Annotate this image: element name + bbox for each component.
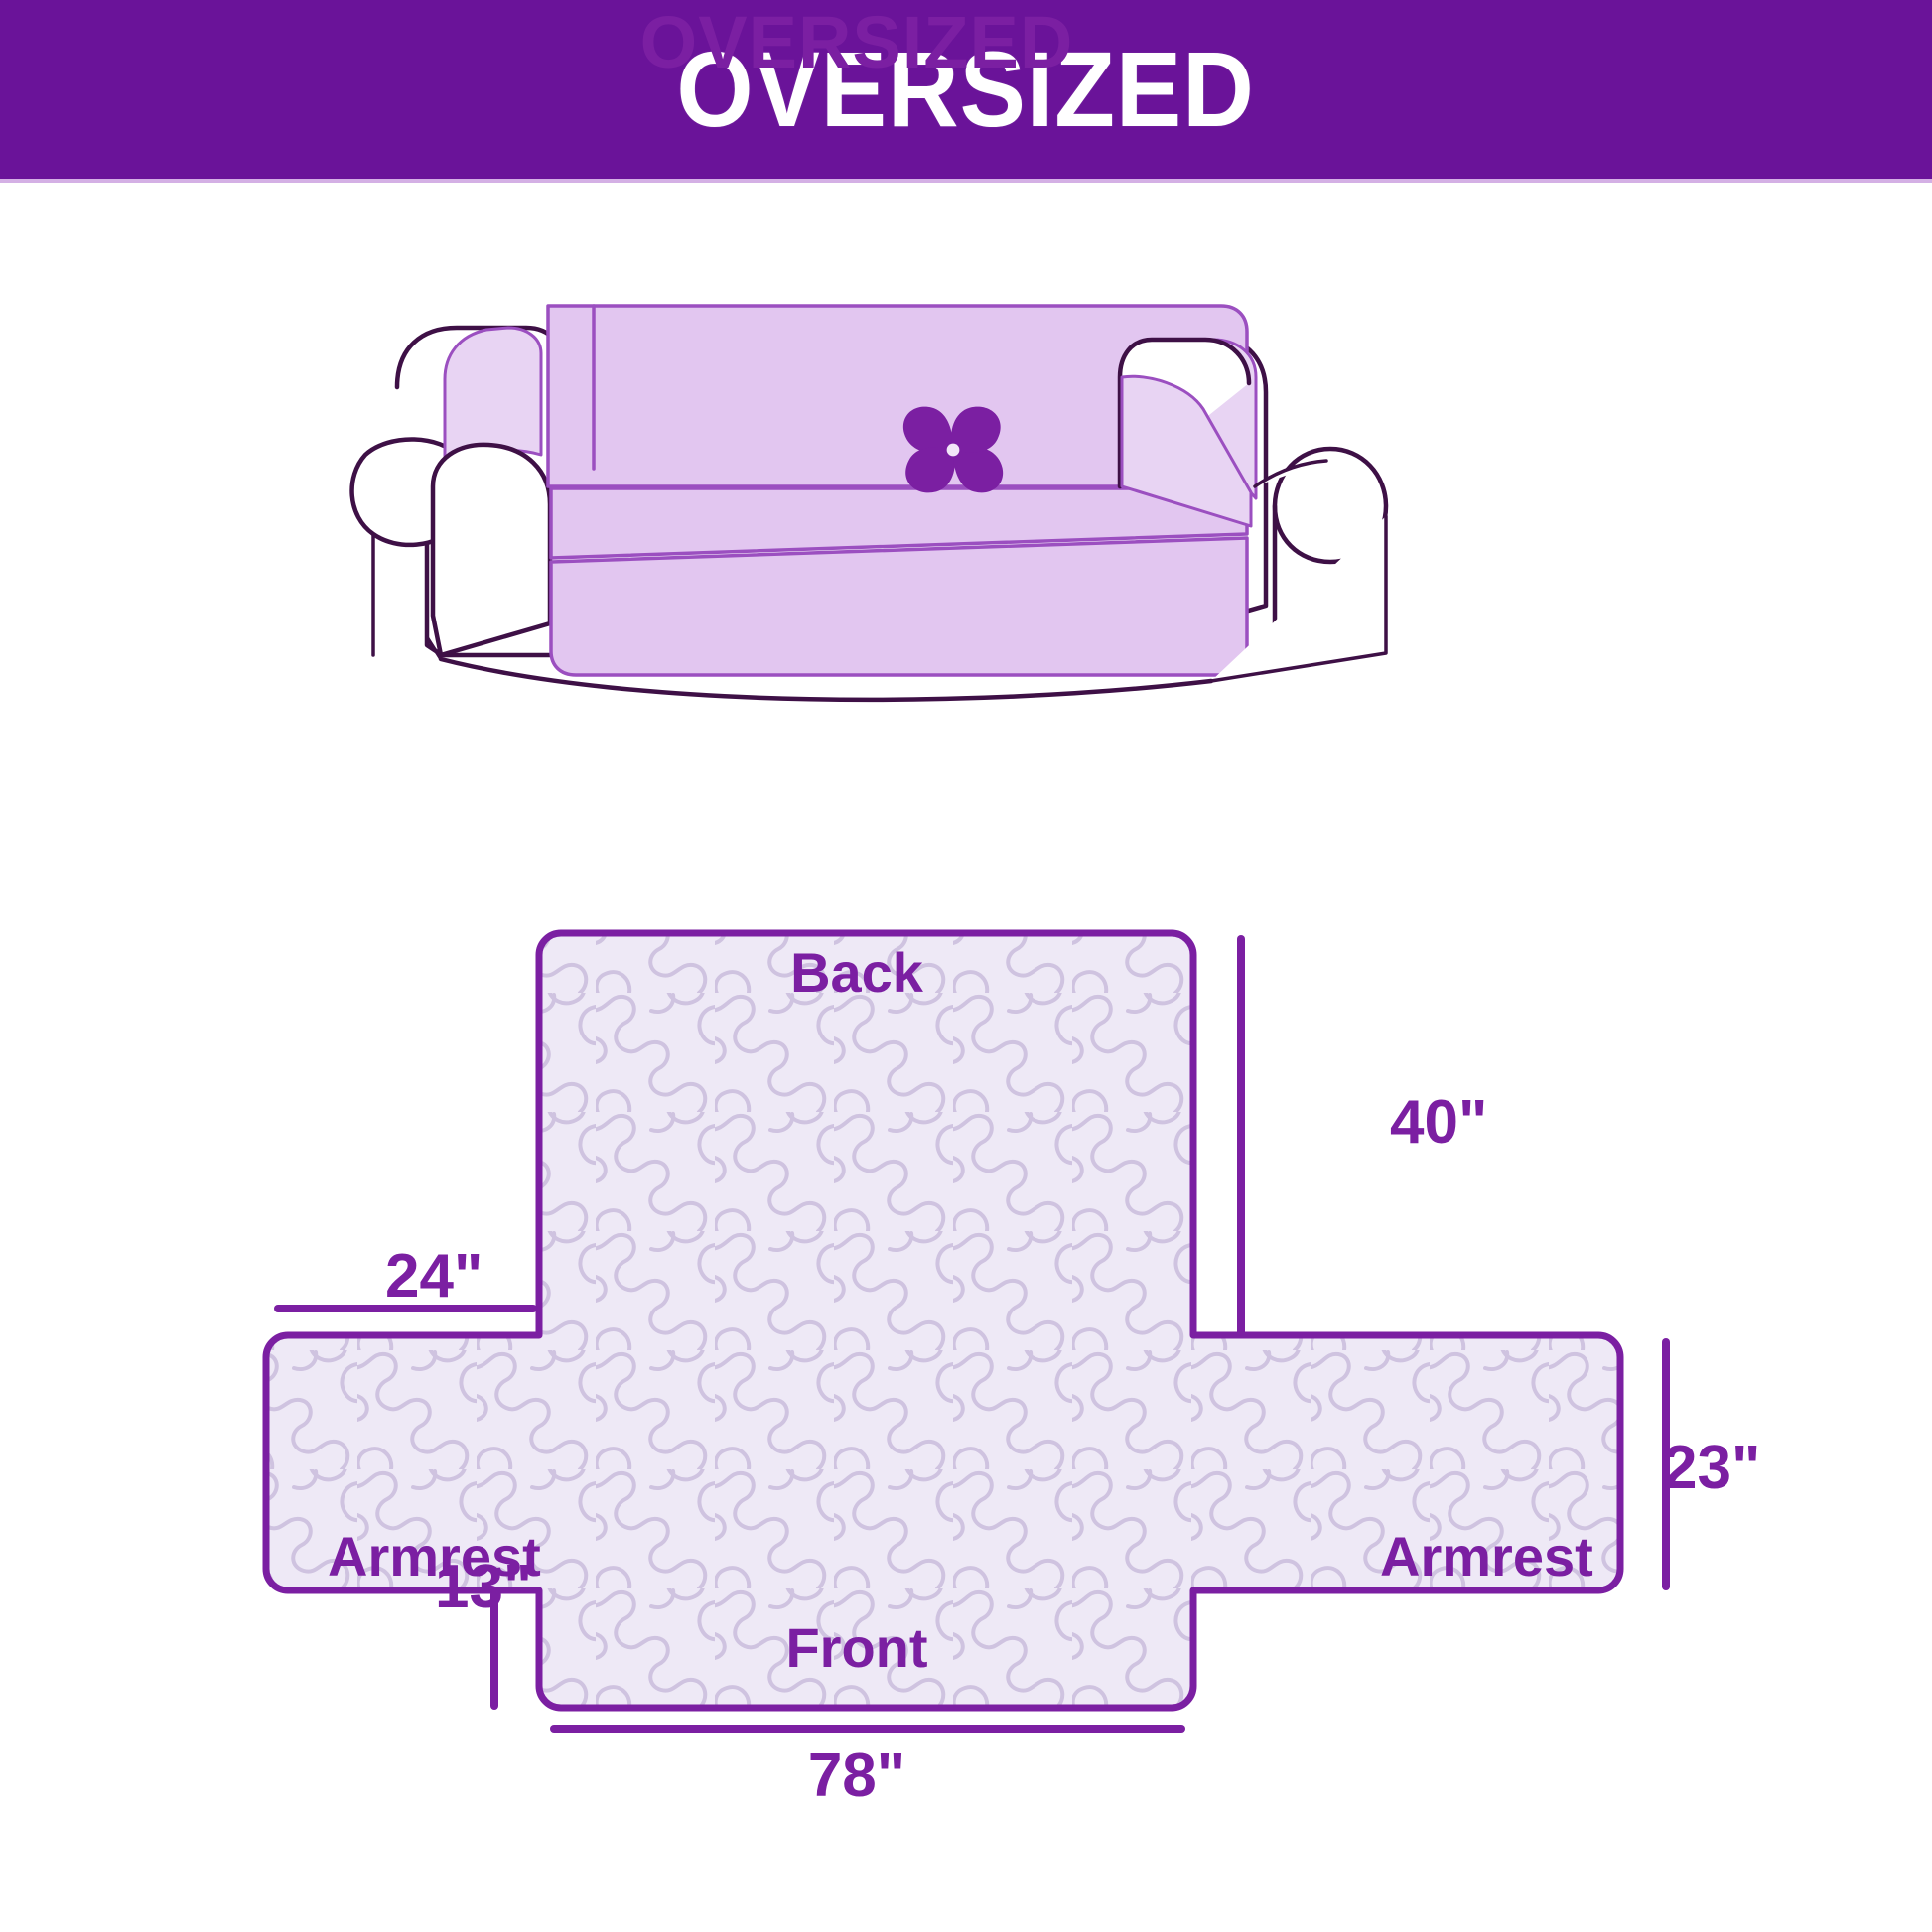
dimension-front-drop: 13" bbox=[435, 1557, 532, 1618]
label-center-oversized: OVERSIZED bbox=[0, 0, 1823, 84]
label-back: Back bbox=[0, 945, 1823, 1001]
label-front: Front bbox=[0, 1620, 1823, 1676]
dimension-armrest-height: 23" bbox=[1663, 1438, 1760, 1499]
dimension-side-inset: 24" bbox=[385, 1246, 483, 1308]
sofa-illustration: .ol{fill:none;stroke:#3E1046;stroke-widt… bbox=[338, 189, 1628, 705]
banner-divider bbox=[0, 179, 1932, 183]
dimension-back-height: 40" bbox=[1390, 1092, 1487, 1154]
dimension-front-width: 78" bbox=[0, 1745, 1823, 1807]
label-armrest-right: Armrest bbox=[1380, 1529, 1593, 1585]
